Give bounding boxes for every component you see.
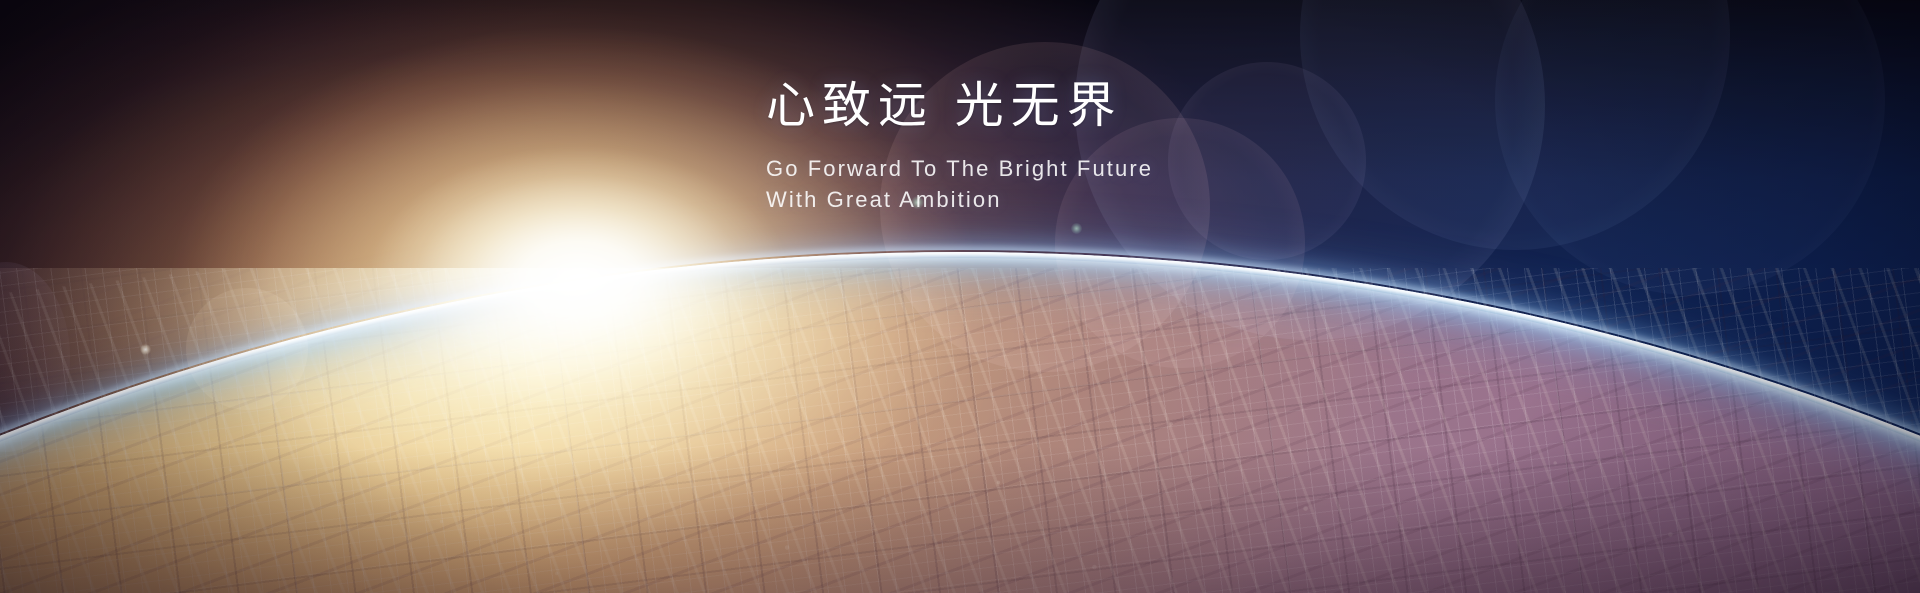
lens-flare-spark-green-2 (1071, 223, 1082, 234)
banner-subtitle-line-2: With Great Ambition (766, 184, 1153, 215)
hero-banner: 心致远 光无界 Go Forward To The Bright Future … (0, 0, 1920, 593)
lens-flare-bokeh-right-3 (1495, 0, 1885, 295)
lens-flare-bokeh-center-3 (1168, 62, 1366, 260)
banner-copy-block: 心致远 光无界 Go Forward To The Bright Future … (766, 82, 1153, 215)
lens-flare-bokeh-right-2 (1300, 0, 1730, 250)
banner-headline: 心致远 光无界 (766, 82, 1153, 132)
banner-subtitle-line-1: Go Forward To The Bright Future (766, 153, 1153, 184)
